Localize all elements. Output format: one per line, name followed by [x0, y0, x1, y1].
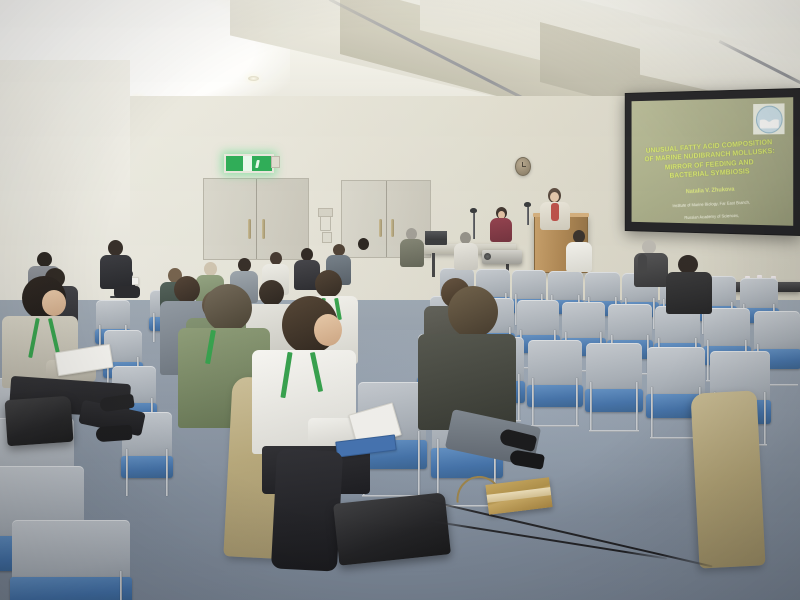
wall-speaker-grille — [318, 208, 333, 217]
slide-text-block: UNUSUAL FATTY ACID COMPOSITION OF MARINE… — [632, 136, 794, 226]
door-handle-2[interactable] — [262, 219, 265, 239]
audience-member — [454, 232, 478, 268]
wall-intercom[interactable] — [320, 215, 331, 231]
face — [314, 314, 342, 346]
conference-room-photo: UNUSUAL FATTY ACID COMPOSITION OF MARINE… — [0, 0, 800, 600]
door-handle-4[interactable] — [391, 219, 394, 237]
audience-member — [566, 230, 592, 270]
jacket-on-chair-right — [690, 390, 765, 568]
presentation-laptop[interactable] — [425, 231, 447, 245]
exit-sign-side-plate — [271, 156, 280, 168]
black-bag-on-seat — [4, 396, 73, 446]
presenter-blouse — [551, 203, 559, 221]
door-handle-3[interactable] — [379, 219, 382, 237]
projection-screen: UNUSUAL FATTY ACID COMPOSITION OF MARINE… — [625, 88, 800, 236]
slide-affiliation-line-3: Vladivostok, Russia — [634, 224, 793, 226]
audience-member — [666, 255, 712, 311]
downlight-12 — [248, 76, 259, 81]
audience-member-suit — [98, 240, 134, 302]
face — [42, 290, 66, 316]
chair[interactable] — [528, 340, 582, 426]
slide-surface: UNUSUAL FATTY ACID COMPOSITION OF MARINE… — [632, 97, 794, 226]
chair-torso — [490, 218, 512, 242]
chair[interactable] — [12, 520, 130, 600]
head — [448, 286, 498, 338]
institution-logo — [753, 103, 784, 134]
presenter-at-podium — [534, 188, 574, 228]
slide-author: Natalia V. Zhukova — [632, 182, 794, 198]
chair[interactable] — [586, 343, 642, 431]
door-handle-1[interactable] — [248, 219, 251, 239]
data-projector — [482, 250, 522, 264]
emergency-exit-sign — [224, 154, 274, 173]
session-chair-seated — [487, 207, 515, 243]
slide-affiliation-line-2: Russian Academy of Sciences, — [633, 210, 793, 223]
presenter-face — [550, 192, 559, 202]
wall-switch-plate[interactable] — [322, 232, 332, 243]
head — [204, 284, 252, 332]
marine-biology-wave-logo-icon — [756, 105, 783, 133]
slide-affiliation-line-1: Institute of Marine Biology, Far East Br… — [632, 197, 793, 210]
audience-member — [634, 240, 668, 284]
wall-clock — [515, 157, 531, 176]
table-leg-1 — [432, 253, 435, 277]
projector-lens — [484, 253, 491, 260]
audience-member — [400, 228, 424, 266]
shoe — [96, 425, 133, 442]
